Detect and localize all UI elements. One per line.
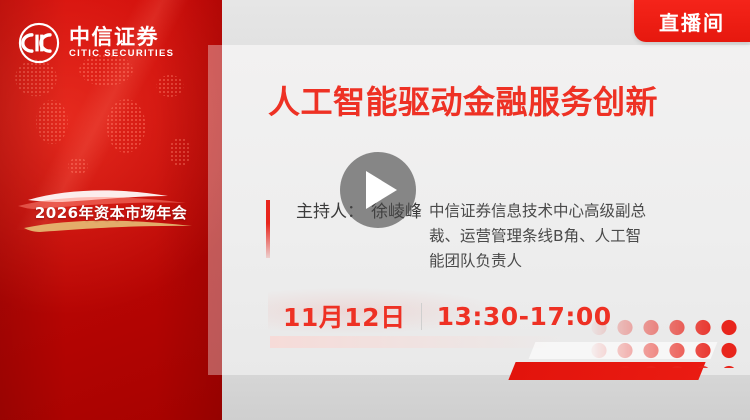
play-triangle-icon [366, 171, 397, 209]
logo-chinese-name: 中信证券 [69, 27, 174, 48]
live-event-banner: 中信证券 CITIC SECURITIES 2026年资本市场年会 直播间 人工… [0, 0, 750, 420]
datetime-row: 11月12日 13:30-17:00 [283, 298, 612, 334]
page-title: 人工智能驱动金融服务创新 [268, 84, 688, 122]
play-button[interactable] [340, 152, 416, 228]
event-date: 11月12日 [283, 298, 406, 334]
conference-badge-label: 2026年资本市场年会 [0, 202, 222, 223]
pink-accent-strip [270, 336, 570, 348]
accent-bar [266, 200, 270, 258]
citic-securities-logo: 中信证券 CITIC SECURITIES [18, 22, 174, 64]
conference-badge: 2026年资本市场年会 [0, 186, 222, 238]
citic-circle-emblem-icon [18, 22, 60, 64]
live-room-badge[interactable]: 直播间 [634, 0, 750, 42]
datetime-separator [421, 303, 422, 330]
logo-english-name: CITIC SECURITIES [69, 49, 174, 59]
live-room-badge-label: 直播间 [659, 7, 725, 36]
bottom-grey-band [222, 375, 750, 420]
brand-panel: 中信证券 CITIC SECURITIES 2026年资本市场年会 [0, 0, 222, 420]
host-title: 中信证券信息技术中心高级副总裁、运营管理条线B角、人工智能团队负责人 [429, 199, 653, 273]
decorative-dot-grid [586, 316, 742, 368]
logo-wordmark: 中信证券 CITIC SECURITIES [69, 27, 174, 59]
